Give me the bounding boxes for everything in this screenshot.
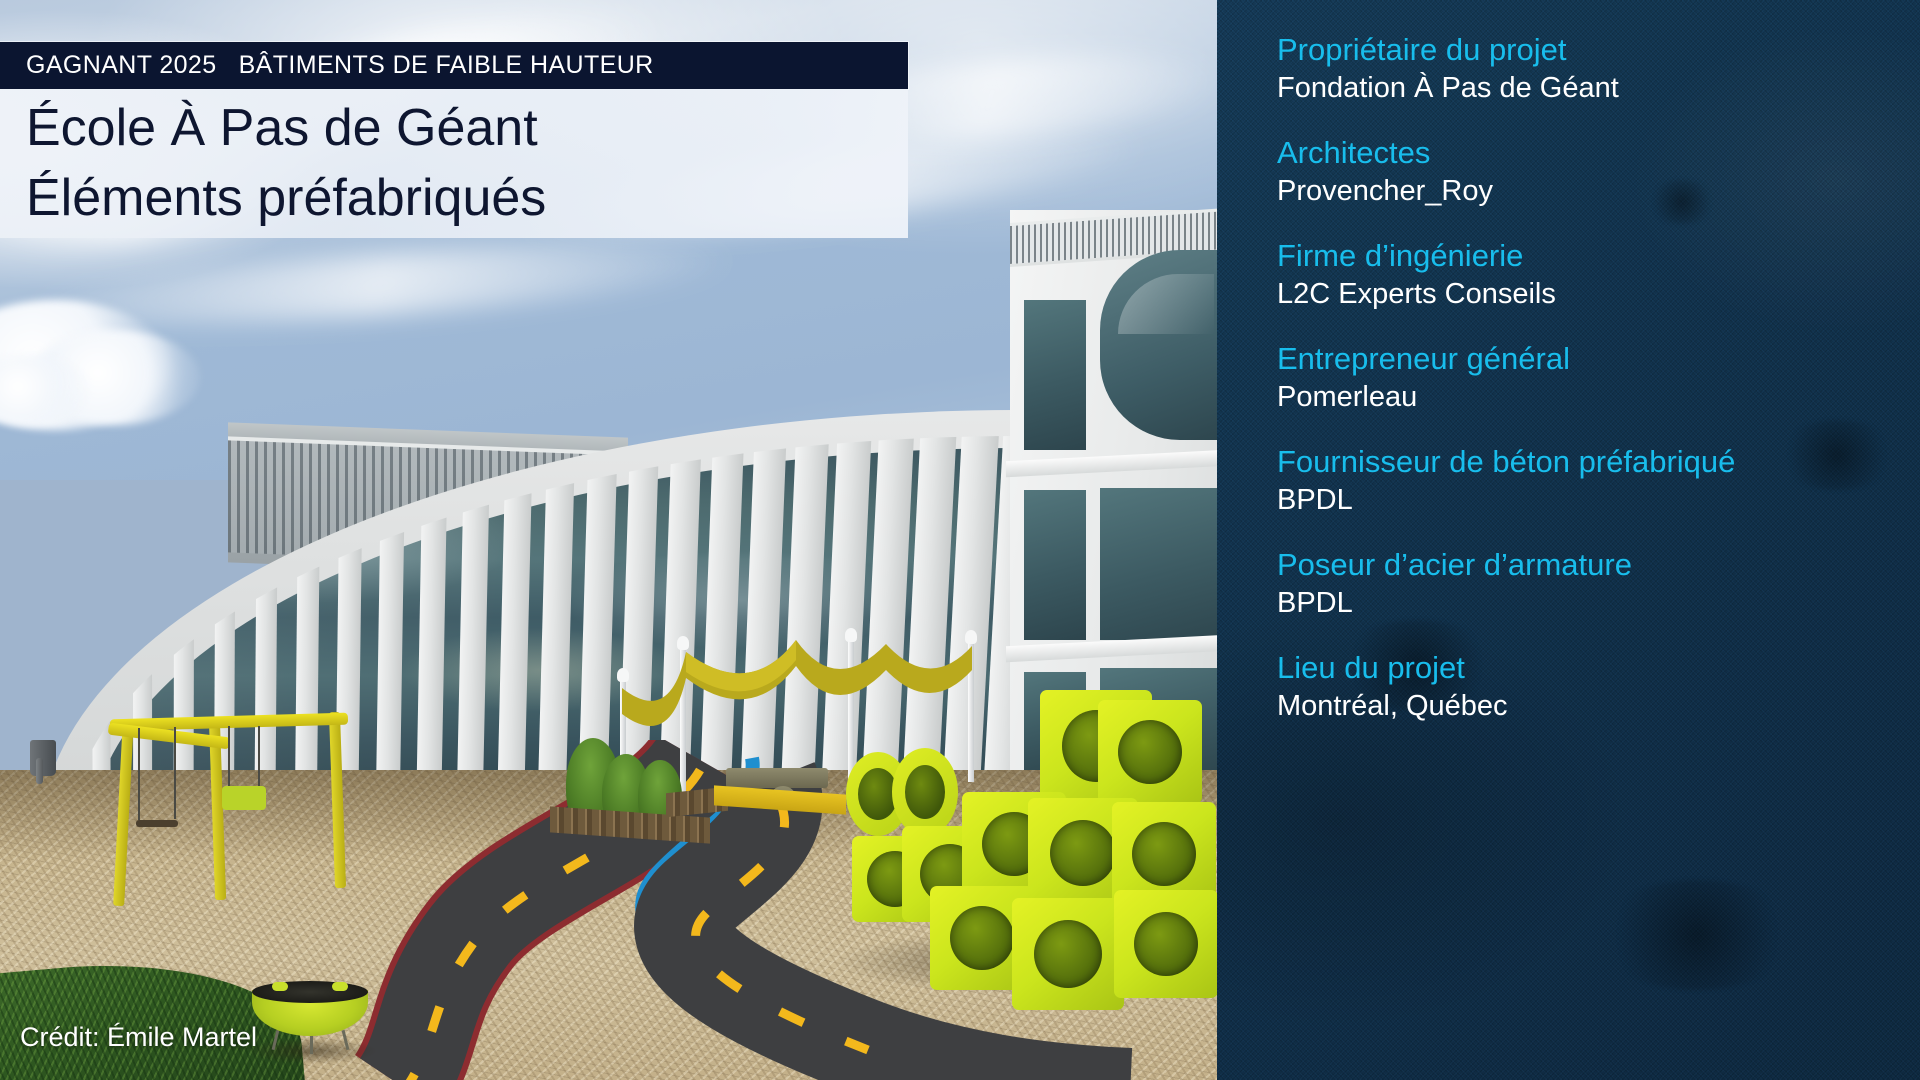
award-banner: GAGNANT 2025 BÂTIMENTS DE FAIBLE HAUTEUR	[0, 42, 908, 89]
photo-credit: Crédit: Émile Martel	[20, 1022, 257, 1053]
credit-item: Fournisseur de béton préfabriquéBPDL	[1277, 442, 1897, 519]
play-cube	[1114, 890, 1217, 998]
spinner-handle	[332, 982, 348, 991]
credit-label: Fournisseur de béton préfabriqué	[1277, 442, 1897, 482]
swing-seat	[136, 820, 178, 827]
cube-opening	[1134, 912, 1198, 976]
trash-can	[30, 740, 56, 776]
texture-splotch	[1597, 880, 1797, 990]
credit-item: Entrepreneur généralPomerleau	[1277, 339, 1897, 416]
play-cube	[1098, 700, 1202, 804]
play-cube	[1012, 898, 1124, 1010]
swing-seat-accessible	[222, 786, 266, 810]
swing-chain	[174, 727, 176, 819]
project-title-card: École À Pas de Géant Éléments préfabriqu…	[0, 89, 908, 238]
spinner-disc	[252, 981, 368, 1003]
credit-label: Entrepreneur général	[1277, 339, 1897, 379]
bollard	[36, 758, 43, 784]
swing-chain	[228, 726, 230, 790]
outdoor-bench	[726, 768, 828, 788]
credit-label: Firme d’ingénierie	[1277, 236, 1897, 276]
credit-label: Architectes	[1277, 133, 1897, 173]
cube-opening	[1132, 822, 1196, 886]
credit-label: Propriétaire du projet	[1277, 30, 1897, 70]
cube-opening	[1118, 720, 1182, 784]
cube-opening	[950, 906, 1014, 970]
award-banner-text: GAGNANT 2025 BÂTIMENTS DE FAIBLE HAUTEUR	[26, 51, 654, 80]
credit-value: Provencher_Roy	[1277, 173, 1897, 210]
spinner-handle	[272, 982, 288, 991]
slide-root: GAGNANT 2025 BÂTIMENTS DE FAIBLE HAUTEUR…	[0, 0, 1920, 1080]
cube-opening	[1050, 820, 1116, 886]
credit-item: Poseur d’acier d’armatureBPDL	[1277, 545, 1897, 622]
swing-chain	[258, 726, 260, 790]
credit-item: Firme d’ingénierieL2C Experts Conseils	[1277, 236, 1897, 313]
project-photo: GAGNANT 2025 BÂTIMENTS DE FAIBLE HAUTEUR…	[0, 0, 1217, 1080]
tunnel-opening	[905, 765, 945, 819]
credit-label: Lieu du projet	[1277, 648, 1897, 688]
credit-value: BPDL	[1277, 585, 1897, 622]
credit-value: Pomerleau	[1277, 379, 1897, 416]
swing-chain	[138, 728, 140, 820]
credit-value: Fondation À Pas de Géant	[1277, 70, 1897, 107]
shade-sail-fabric	[600, 630, 1020, 770]
credit-item: Lieu du projetMontréal, Québec	[1277, 648, 1897, 725]
cube-opening	[1034, 920, 1102, 988]
project-credits-list: Propriétaire du projetFondation À Pas de…	[1277, 30, 1897, 751]
credit-item: ArchitectesProvencher_Roy	[1277, 133, 1897, 210]
credit-value: Montréal, Québec	[1277, 688, 1897, 725]
wing-window	[1024, 300, 1086, 450]
wing-window	[1100, 488, 1217, 640]
wing-window	[1024, 490, 1086, 640]
spinner-leg	[310, 1034, 313, 1054]
project-info-sidebar: Propriétaire du projetFondation À Pas de…	[1217, 0, 1920, 1080]
credit-value: BPDL	[1277, 482, 1897, 519]
play-tunnel	[892, 748, 958, 836]
project-title-line-2: Éléments préfabriqués	[26, 163, 908, 233]
project-title-line-1: École À Pas de Géant	[26, 93, 908, 163]
credit-label: Poseur d’acier d’armature	[1277, 545, 1897, 585]
credit-value: L2C Experts Conseils	[1277, 276, 1897, 313]
credit-item: Propriétaire du projetFondation À Pas de…	[1277, 30, 1897, 107]
